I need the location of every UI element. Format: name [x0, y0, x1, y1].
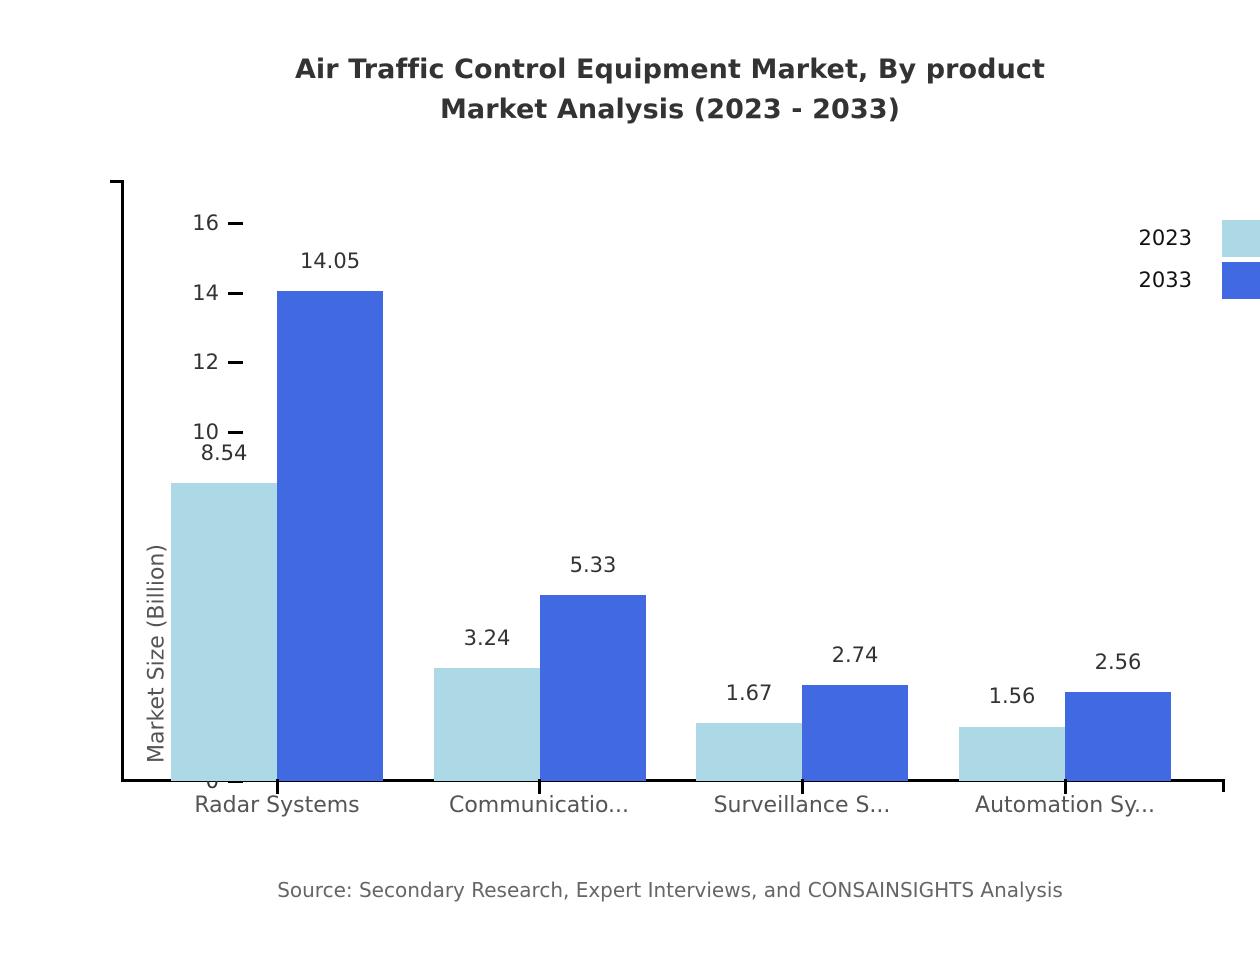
x-tick-mark-radar-systems	[276, 779, 279, 794]
chart-title-line-1: Air Traffic Control Equipment Market, By…	[0, 50, 1260, 90]
x-axis-label-radar-systems: Radar Systems	[147, 793, 407, 818]
y-tick-label: 14	[173, 279, 219, 307]
bar-2033-communication-systems[interactable]	[540, 595, 646, 781]
y-axis-title: Market Size (Billion)	[145, 354, 170, 954]
legend-item-2033[interactable]: 2033	[1130, 262, 1260, 304]
bar-value-2023-surveillance-systems: 1.67	[694, 680, 804, 706]
bar-value-2033-radar-systems: 14.05	[275, 248, 385, 274]
legend-swatch-2033	[1222, 262, 1260, 299]
bar-chart-figure: Air Traffic Control Equipment Market, By…	[0, 0, 1260, 920]
x-tick-mark-surveillance-systems	[801, 779, 804, 794]
bar-value-2033-communication-systems: 5.33	[538, 552, 648, 578]
chart-legend: 2023 2033	[1130, 220, 1260, 304]
x-axis-label-surveillance-systems: Surveillance S...	[672, 793, 932, 818]
bar-2023-surveillance-systems[interactable]	[696, 723, 802, 781]
bar-value-2033-automation-systems: 2.56	[1063, 649, 1173, 675]
y-tick-mark	[228, 292, 243, 295]
source-note: Source: Secondary Research, Expert Inter…	[0, 878, 1260, 902]
legend-swatch-2023	[1222, 220, 1260, 257]
bar-2023-automation-systems[interactable]	[959, 727, 1065, 781]
x-tick-mark-automation-systems	[1064, 779, 1067, 794]
y-tick-mark	[228, 361, 243, 364]
legend-label-2023: 2023	[1130, 224, 1192, 252]
bar-value-2023-automation-systems: 1.56	[957, 683, 1067, 709]
y-tick-label: 16	[173, 209, 219, 237]
legend-label-2033: 2033	[1130, 266, 1192, 294]
x-axis-label-communication-systems: Communicatio...	[409, 793, 669, 818]
bar-2033-surveillance-systems[interactable]	[802, 685, 908, 781]
y-tick-label: 12	[173, 348, 219, 376]
y-tick-mark	[228, 431, 243, 434]
y-tick-mark	[228, 222, 243, 225]
bar-2033-radar-systems[interactable]	[277, 291, 383, 781]
bar-value-2023-radar-systems: 8.54	[169, 440, 279, 466]
bar-2023-radar-systems[interactable]	[171, 483, 277, 781]
bar-value-2033-surveillance-systems: 2.74	[800, 642, 910, 668]
chart-title-line-2: Market Analysis (2023 - 2033)	[0, 90, 1260, 130]
bar-value-2023-communication-systems: 3.24	[432, 625, 542, 651]
chart-title: Air Traffic Control Equipment Market, By…	[0, 50, 1260, 130]
x-axis-label-automation-systems: Automation Sy...	[935, 793, 1195, 818]
bar-2033-automation-systems[interactable]	[1065, 692, 1171, 781]
legend-item-2023[interactable]: 2023	[1130, 220, 1260, 262]
x-tick-mark-communication-systems	[538, 779, 541, 794]
bar-2023-communication-systems[interactable]	[434, 668, 540, 781]
plot-area: Market Size (Billion) 0 2 4 6 8 10 12	[121, 181, 1225, 781]
